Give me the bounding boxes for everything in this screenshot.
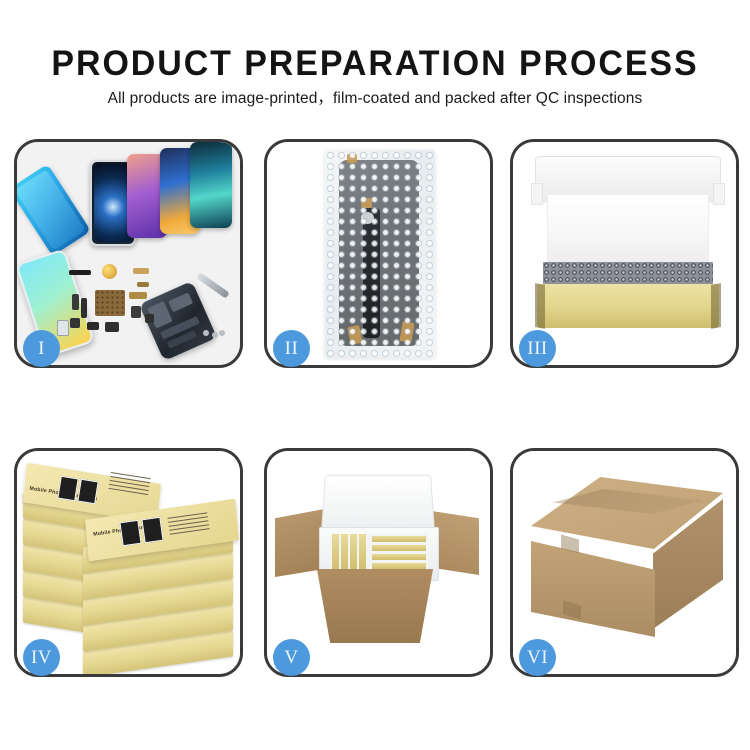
ic-chip-part <box>145 314 154 323</box>
foam-box-lid <box>321 475 435 533</box>
yellow-box-item <box>359 534 366 572</box>
carton-front-face <box>531 541 655 637</box>
yellow-box-item <box>341 534 348 572</box>
foam-sheet <box>547 194 709 266</box>
box-artwork-swatch <box>57 476 78 502</box>
yellow-box-item <box>350 534 357 572</box>
step-panel-1[interactable]: I <box>14 139 243 368</box>
step-badge-1: I <box>23 330 60 367</box>
box-stack: Mobile Phone Spare Parts Mobile Phone Sp… <box>17 465 240 665</box>
yellow-box-item <box>332 534 339 572</box>
yellow-box-item <box>372 545 426 551</box>
carton-body <box>309 569 441 643</box>
tape-middle <box>361 198 372 208</box>
lcd-screen-assembly <box>339 160 419 346</box>
box-artwork-swatch <box>141 517 163 543</box>
yellow-box-item <box>372 563 426 569</box>
flex-cable-gold-part <box>133 268 149 274</box>
flex-cable-strip <box>363 208 380 338</box>
phone-blue-tilted <box>17 164 91 256</box>
tape-bottom-left <box>347 325 362 345</box>
connector-pad <box>361 212 374 224</box>
chip-grid-icon <box>95 290 125 316</box>
step-badge-5: V <box>273 639 310 676</box>
speaker-coil-icon <box>102 264 117 279</box>
bubble-wrap-sleeve <box>325 150 435 358</box>
button-part <box>131 306 141 318</box>
step-panel-4[interactable]: Mobile Phone Spare Parts Mobile Phone Sp… <box>14 448 243 677</box>
antenna-strip-part <box>129 292 147 299</box>
phone-teal <box>190 142 232 228</box>
camera-module-part <box>72 294 79 310</box>
screws-group <box>203 330 225 338</box>
tape-top <box>347 154 357 163</box>
step-badge-4: IV <box>23 639 60 676</box>
yellow-box-item <box>372 554 426 560</box>
step-badge-6: VI <box>519 639 556 676</box>
box-artwork-swatch <box>77 479 98 505</box>
product-preparation-infographic: PRODUCT PREPARATION PROCESS All products… <box>0 0 750 750</box>
step-panel-3[interactable]: III <box>510 139 739 368</box>
foam-box-contents <box>330 534 428 572</box>
vibrator-part <box>70 318 80 328</box>
sensor-part <box>87 322 99 330</box>
step-panel-2[interactable]: II <box>264 139 493 368</box>
flex-cable-small-part <box>137 282 149 287</box>
sim-tray-part <box>57 320 69 336</box>
step-badge-2: II <box>273 330 310 367</box>
step-panel-5[interactable]: V <box>264 448 493 677</box>
step-badge-3: III <box>519 330 556 367</box>
box-artwork-swatch <box>119 520 141 546</box>
yellow-box-item <box>372 536 426 542</box>
speaker-part <box>105 322 119 332</box>
screwdriver-icon <box>196 272 230 298</box>
step-panel-6[interactable]: VI <box>510 448 739 677</box>
yellow-box-base <box>537 284 719 328</box>
process-steps-grid: I II <box>0 0 750 750</box>
tape-bottom-right <box>399 321 414 343</box>
battery-connector-part <box>69 270 91 275</box>
ribbon-cable-part <box>81 298 87 318</box>
